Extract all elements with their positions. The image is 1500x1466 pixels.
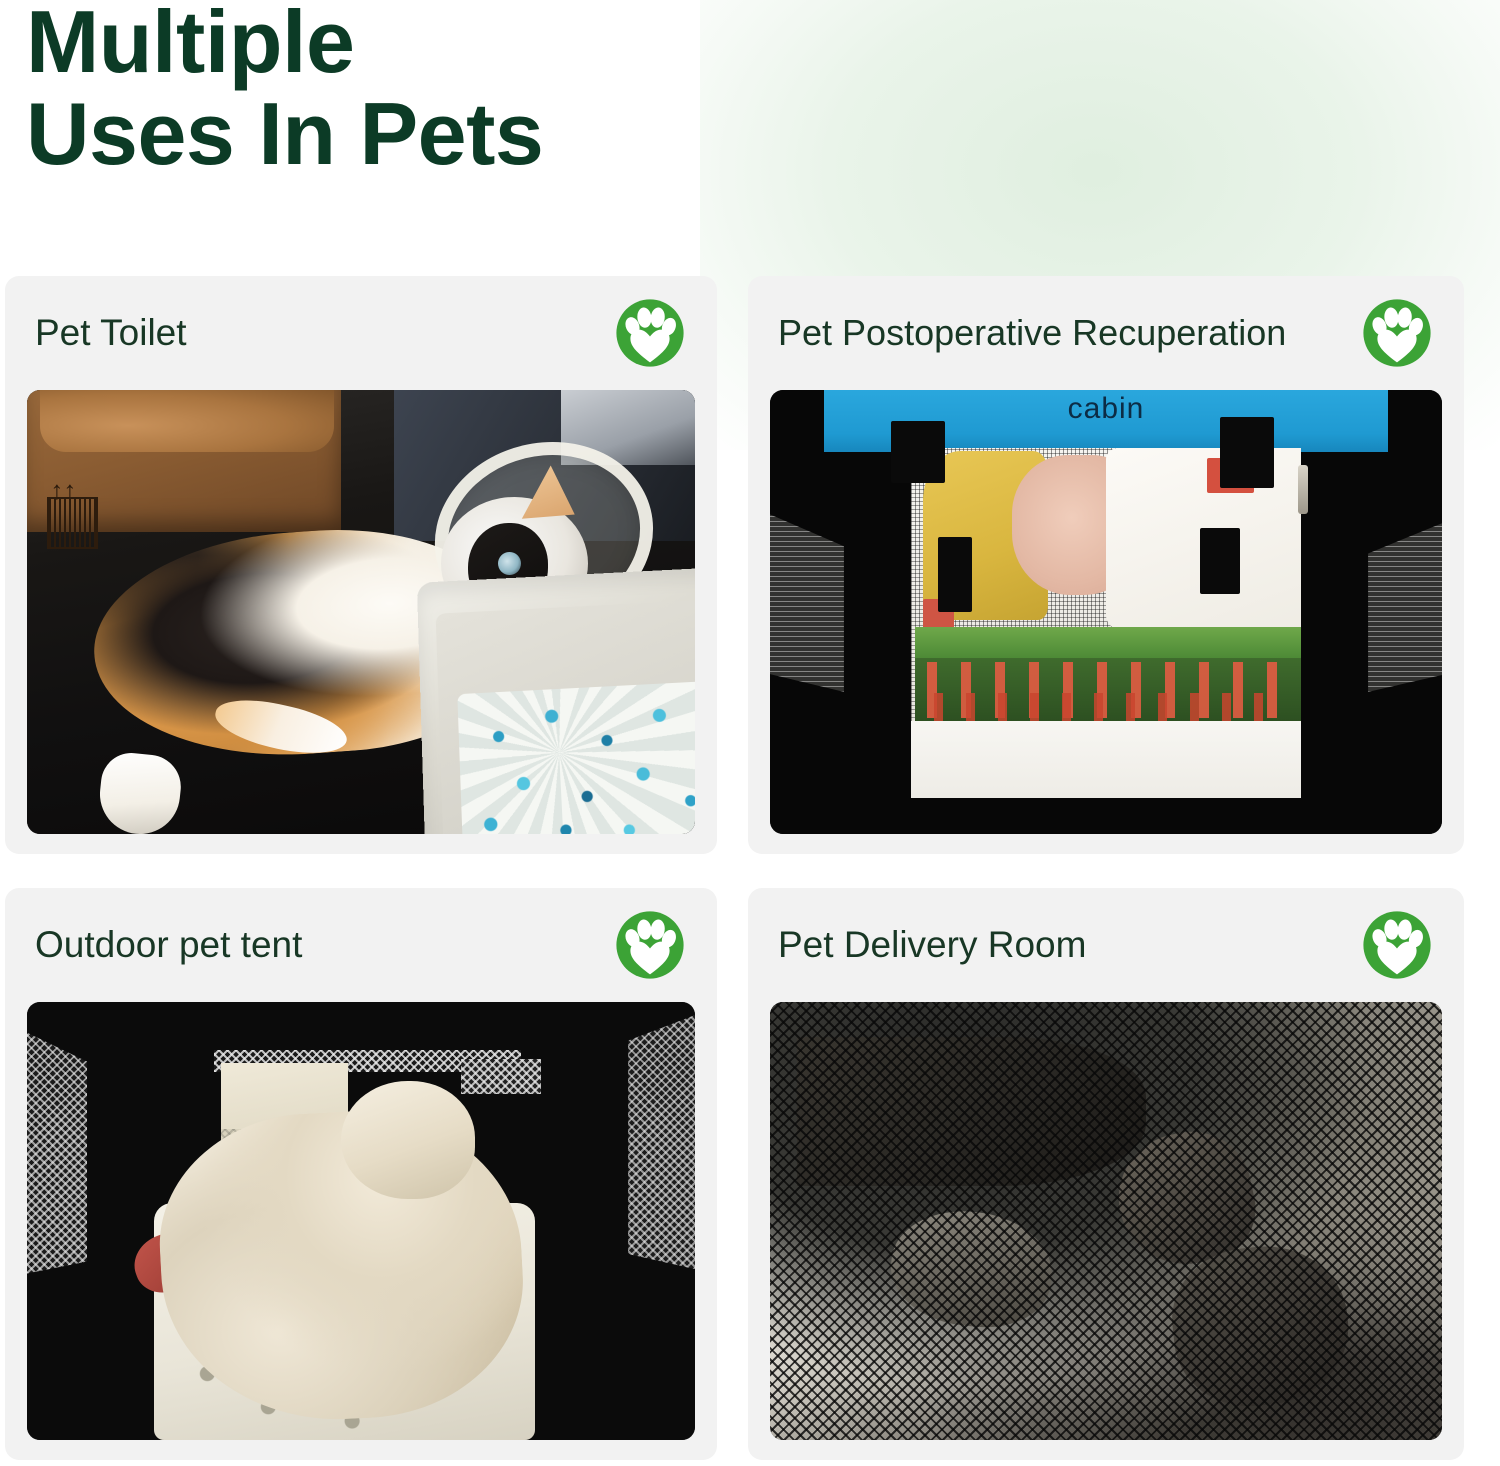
pet-uses-infographic: Multiple Uses In Pets Pet Toilet ↑↑: [0, 0, 1500, 1466]
card-title: Pet Toilet: [35, 313, 187, 354]
page-title: Multiple Uses In Pets: [26, 0, 786, 179]
card-photo-pet-toilet: ↑↑: [27, 390, 695, 834]
paw-icon: [615, 298, 685, 368]
paw-icon: [1362, 910, 1432, 980]
use-case-card-outdoor-pet-tent: Outdoor pet tent: [5, 888, 717, 1460]
card-title: Pet Delivery Room: [778, 925, 1086, 966]
use-case-card-pet-toilet: Pet Toilet ↑↑: [5, 276, 717, 854]
card-photo-outdoor-pet-tent: [27, 1002, 695, 1440]
paw-icon: [1362, 298, 1432, 368]
card-header: Pet Delivery Room: [748, 888, 1464, 1002]
card-title: Outdoor pet tent: [35, 925, 302, 966]
card-header: Outdoor pet tent: [5, 888, 717, 1002]
use-case-card-pet-postoperative-recuperation: Pet Postoperative Recuperation cabin: [748, 276, 1464, 854]
carrier-brand-text: cabin: [770, 392, 1442, 426]
use-case-card-pet-delivery-room: Pet Delivery Room: [748, 888, 1464, 1460]
card-photo-pet-delivery-room: [770, 1002, 1442, 1440]
paw-icon: [615, 910, 685, 980]
card-header: Pet Postoperative Recuperation: [748, 276, 1464, 390]
card-photo-pet-postoperative-recuperation: cabin: [770, 390, 1442, 834]
card-title: Pet Postoperative Recuperation: [778, 313, 1286, 353]
card-header: Pet Toilet: [5, 276, 717, 390]
